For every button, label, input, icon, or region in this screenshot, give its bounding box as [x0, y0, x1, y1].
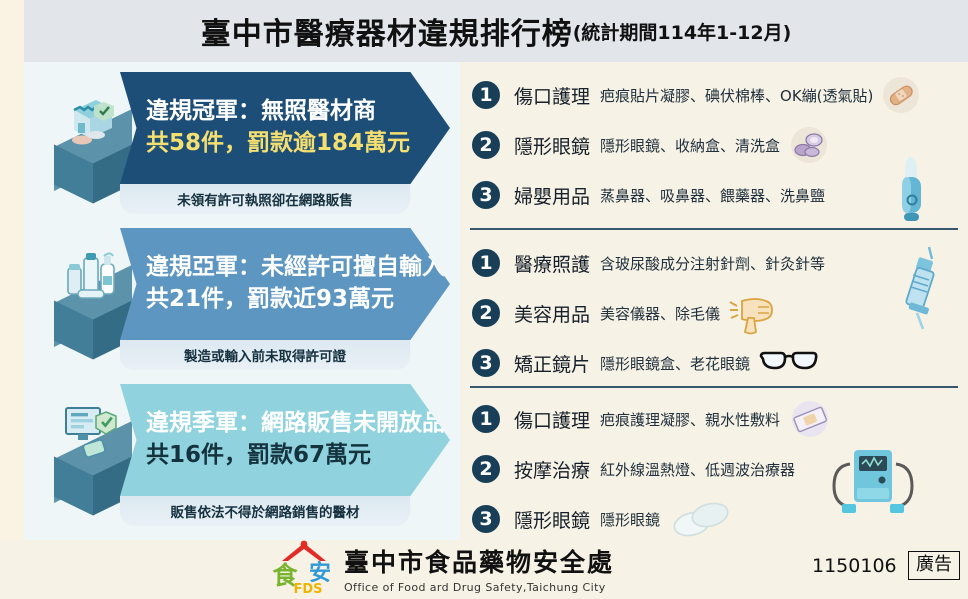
rank-badge: 3: [470, 503, 502, 535]
rank-badge: 3: [470, 347, 502, 379]
rank-badge: 3: [470, 179, 502, 211]
rank-3-title: 違規季軍：網路販售未開放品項: [146, 408, 450, 440]
tens-device-icon: [826, 442, 920, 522]
nasal-aspirator-icon: [890, 150, 936, 226]
rank-1-stat: 共58件，罰款逾184萬元: [146, 128, 450, 160]
category-group-2: 1 醫療照護 含玻尿酸成分注射針劑、針灸針等 2 美容用品 美容儀器、除毛儀 3…: [470, 238, 962, 388]
rank-banner-2-arrow: 違規亞軍：未經許可擅自輸入 共21件，罰款近93萬元: [120, 228, 450, 340]
footer-org-en: Office of Food ard Drug Safety,Taichung …: [344, 581, 614, 594]
footer-org: 臺中市食品藥物安全處 Office of Food ard Drug Safet…: [344, 543, 614, 594]
category-label: 隱形眼鏡: [514, 506, 590, 533]
category-detail: 疤痕護理凝膠、親水性敷料: [600, 409, 780, 430]
rank-3-stat: 共16件，罰款67萬元: [146, 440, 450, 472]
left-cream-strip: [0, 0, 24, 599]
rank-banner-2: 違規亞軍：未經許可擅自輸入 共21件，罰款近93萬元 製造或輸入前未取得許可證: [24, 222, 460, 372]
rank-2-stat: 共21件，罰款近93萬元: [146, 284, 450, 316]
category-detail: 含玻尿酸成分注射針劑、針灸針等: [600, 253, 825, 274]
category-group-1: 1 傷口護理 疤痕貼片凝膠、碘伏棉棒、OK繃(透氣貼) 2 隱形眼鏡 隱形眼鏡、…: [470, 70, 962, 220]
list-item: 2 美容用品 美容儀器、除毛儀: [470, 288, 962, 338]
food-drug-safety-logo: 食 安 FDS: [268, 540, 340, 596]
rank-2-title: 違規亞軍：未經許可擅自輸入: [146, 252, 450, 284]
list-item: 1 傷口護理 疤痕貼片凝膠、碘伏棉棒、OK繃(透氣貼): [470, 70, 962, 120]
category-label: 美容用品: [514, 300, 590, 327]
category-label: 隱形眼鏡: [514, 132, 590, 159]
rank-3-note-strip: 販售依法不得於網路銷售的醫材: [120, 496, 410, 526]
category-detail: 隱形眼鏡盒、老花眼鏡: [600, 353, 750, 374]
rank-banner-3-arrow: 違規季軍：網路販售未開放品項 共16件，罰款67萬元: [120, 384, 450, 496]
page-title-main: 臺中市醫療器材違規排行榜: [201, 9, 573, 53]
rank-badge: 2: [470, 297, 502, 329]
eyeglasses-icon: [758, 347, 820, 379]
rank-1-title: 違規冠軍：無照醫材商: [146, 96, 450, 128]
rank-banner-1-arrow: 違規冠軍：無照醫材商 共58件，罰款逾184萬元: [120, 72, 450, 184]
footer-org-cn: 臺中市食品藥物安全處: [344, 543, 614, 579]
infographic-page: 臺中市醫療器材違規排行榜 (統計期間114年1-12月) 違規冠軍：無照醫材商 …: [0, 0, 968, 599]
bandage-icon: [881, 75, 921, 115]
category-label: 醫療照護: [514, 250, 590, 277]
footer-code: 1150106: [812, 555, 897, 577]
group-divider: [470, 386, 958, 388]
list-item: 3 矯正鏡片 隱形眼鏡盒、老花眼鏡: [470, 338, 962, 388]
page-title-period: (統計期間114年1-12月): [573, 18, 792, 45]
rank-1-note-strip: 未領有許可執照卻在網路販售: [120, 184, 410, 214]
category-label: 傷口護理: [514, 406, 590, 433]
rank-2-note-strip: 製造或輸入前未取得許可證: [120, 340, 410, 370]
category-detail: 疤痕貼片凝膠、碘伏棉棒、OK繃(透氣貼): [600, 85, 873, 106]
rank-2-note: 製造或輸入前未取得許可證: [184, 345, 346, 365]
list-item: 3 婦嬰用品 蒸鼻器、吸鼻器、餵藥器、洗鼻鹽: [470, 170, 962, 220]
category-label: 傷口護理: [514, 82, 590, 109]
rank-badge: 1: [470, 403, 502, 435]
hair-dryer-icon: [728, 291, 782, 335]
rank-3-note: 販售依法不得於網路銷售的醫材: [171, 501, 360, 521]
category-detail: 美容儀器、除毛儀: [600, 303, 720, 324]
syringe-icon: [895, 245, 943, 331]
contact-lens-icon: [668, 498, 734, 540]
category-label: 按摩治療: [514, 456, 590, 483]
category-detail: 隱形眼鏡: [600, 509, 660, 530]
category-label: 矯正鏡片: [514, 350, 590, 377]
advertisement-badge: 廣告: [908, 551, 960, 580]
list-item: 1 醫療照護 含玻尿酸成分注射針劑、針灸針等: [470, 238, 962, 288]
category-detail: 隱形眼鏡、收納盒、清洗盒: [600, 135, 780, 156]
wound-dressing-icon: [788, 399, 832, 439]
contact-lens-case-icon: [788, 125, 830, 165]
group-divider: [470, 228, 958, 230]
rank-banner-1: 違規冠軍：無照醫材商 共58件，罰款逾184萬元 未領有許可執照卻在網路販售: [24, 66, 460, 216]
rank-badge: 1: [470, 79, 502, 111]
rank-1-note: 未領有許可執照卻在網路販售: [177, 189, 353, 209]
list-item: 2 隱形眼鏡 隱形眼鏡、收納盒、清洗盒: [470, 120, 962, 170]
list-item: 1 傷口護理 疤痕護理凝膠、親水性敷料: [470, 394, 962, 444]
rank-badge: 1: [470, 247, 502, 279]
svg-text:FDS: FDS: [293, 582, 322, 596]
page-title: 臺中市醫療器材違規排行榜 (統計期間114年1-12月): [24, 0, 968, 62]
rank-badge: 2: [470, 453, 502, 485]
rank-banner-3: 違規季軍：網路販售未開放品項 共16件，罰款67萬元 販售依法不得於網路銷售的醫…: [24, 378, 460, 528]
category-detail: 紅外線溫熱燈、低週波治療器: [600, 459, 795, 480]
rank-badge: 2: [470, 129, 502, 161]
category-detail: 蒸鼻器、吸鼻器、餵藥器、洗鼻鹽: [600, 185, 825, 206]
category-label: 婦嬰用品: [514, 182, 590, 209]
